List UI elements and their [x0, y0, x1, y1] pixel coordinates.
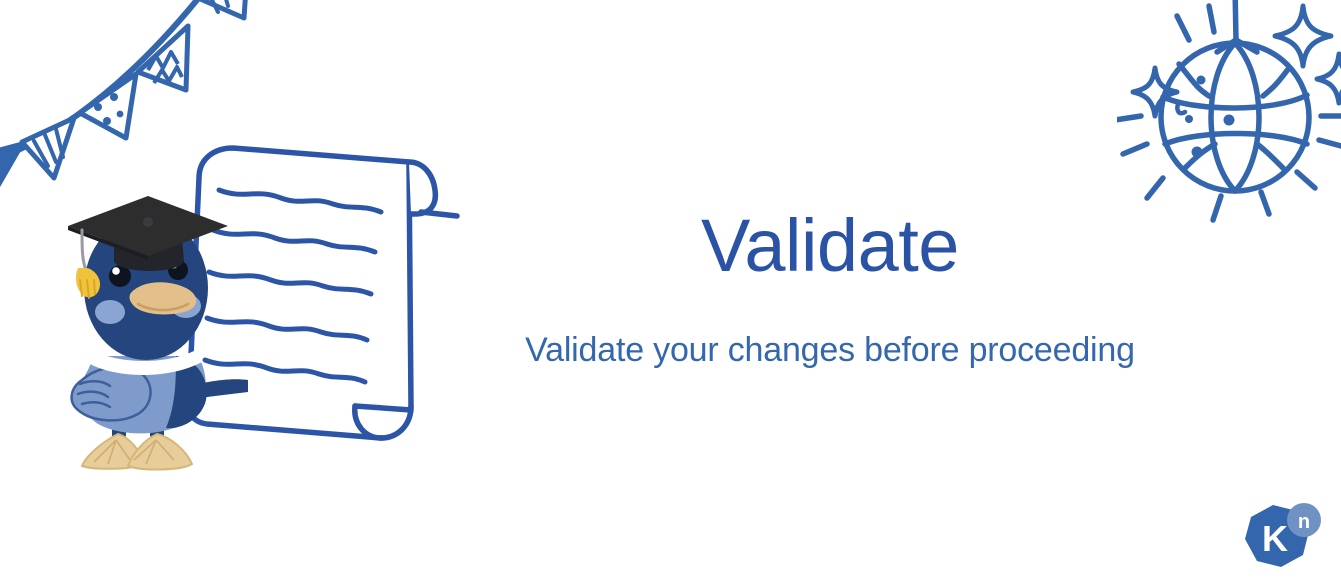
graduate-bird-mascot [58, 188, 248, 473]
bunting-flag-solid [0, 144, 22, 190]
slide-canvas: Validate Validate your changes before pr… [0, 0, 1341, 585]
bird-eye-right [168, 260, 188, 280]
graduation-cap [68, 196, 228, 298]
bird-legs [112, 410, 164, 440]
disco-ball-mirror-dots [1185, 76, 1235, 158]
cap-tassel [76, 268, 100, 297]
party-bunting-flags [0, 0, 286, 190]
bird-wing [72, 367, 151, 421]
bunting-flag-striped [22, 118, 74, 178]
disco-ball [1117, 0, 1341, 232]
brand-letter-n: n [1298, 511, 1310, 533]
bird-feet [82, 434, 192, 470]
disco-light-rays [1117, 6, 1341, 220]
bird-cheek-left [95, 300, 125, 324]
brand-letter-k: K [1262, 518, 1288, 559]
bird-body [81, 356, 248, 433]
page-title: Validate [480, 205, 1180, 286]
bunting-flag-zigzag [138, 26, 188, 90]
bunting-flag-striped-2 [198, 0, 248, 18]
bird-eye-left [109, 265, 131, 287]
bunting-flag-dotted [80, 74, 136, 138]
slide-text-block: Validate Validate your changes before pr… [480, 205, 1180, 371]
scroll-text-lines [205, 190, 381, 382]
scroll-document [185, 138, 465, 458]
bird-collar [90, 348, 202, 375]
bird-cheek-right [171, 294, 201, 318]
brand-logo: K n [1237, 499, 1323, 575]
bird-beak [130, 282, 197, 314]
page-subtitle: Validate your changes before proceeding [480, 330, 1180, 371]
bird-head [84, 216, 208, 360]
disco-sparkles [1133, 6, 1341, 116]
